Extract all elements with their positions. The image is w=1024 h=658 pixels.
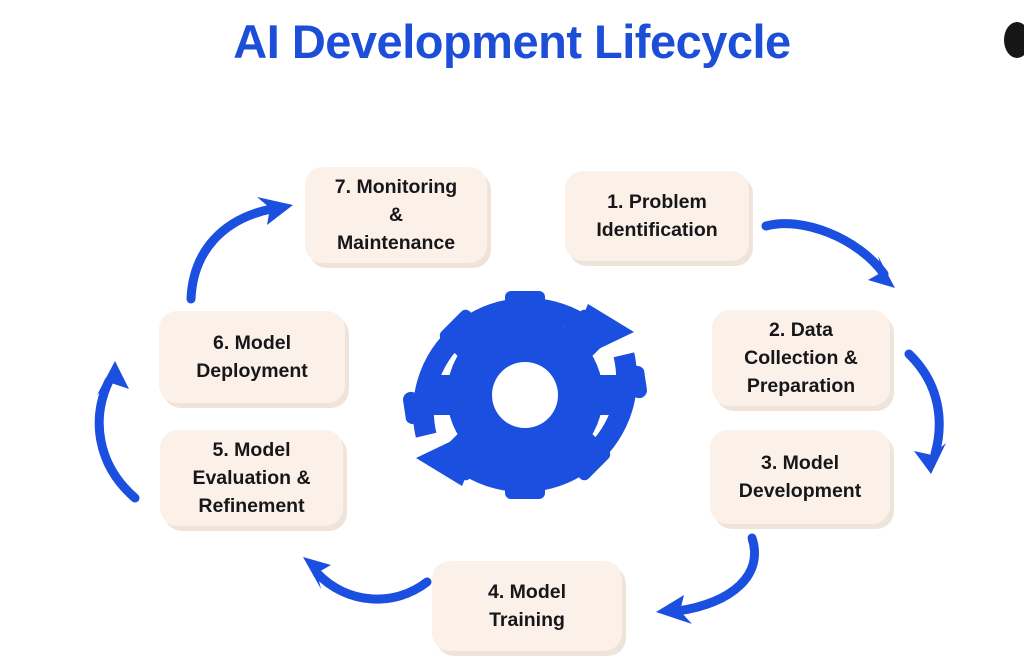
arrow-stage2-to-stage3-icon (886, 350, 976, 485)
stage-label: 6. Model Deployment (169, 329, 335, 385)
stage-box-2-data-collection-preparation[interactable]: 2. Data Collection & Preparation (712, 310, 890, 406)
gear-cycle-icon (392, 262, 658, 528)
stage-label: 7. Monitoring & Maintenance (315, 173, 477, 257)
stage-label: 4. Model Training (442, 578, 612, 634)
stage-label: 3. Model Development (720, 449, 880, 505)
stage-box-5-model-evaluation-refinement[interactable]: 5. Model Evaluation & Refinement (160, 430, 343, 526)
stage-box-7-monitoring-maintenance[interactable]: 7. Monitoring & Maintenance (305, 167, 487, 263)
stage-label: 5. Model Evaluation & Refinement (170, 436, 333, 520)
stage-label: 2. Data Collection & Preparation (722, 316, 880, 400)
stage-box-6-model-deployment[interactable]: 6. Model Deployment (159, 311, 345, 403)
stage-label: 1. Problem Identification (575, 188, 739, 244)
stage-box-1-problem-identification[interactable]: 1. Problem Identification (565, 171, 749, 261)
arrow-stage1-to-stage2-icon (762, 212, 912, 307)
arrow-stage4-to-stage5-icon (285, 535, 435, 630)
edge-clipped-shape-icon (1004, 22, 1024, 58)
stage-box-3-model-development[interactable]: 3. Model Development (710, 430, 890, 524)
arrow-stage5-to-stage6-icon (85, 355, 175, 505)
page-title: AI Development Lifecycle (0, 14, 1024, 69)
diagram-canvas: AI Development Lifecycle (0, 0, 1024, 658)
stage-box-4-model-training[interactable]: 4. Model Training (432, 561, 622, 651)
arrow-stage3-to-stage4-icon (636, 533, 786, 633)
arrow-stage6-to-stage7-icon (175, 195, 305, 305)
